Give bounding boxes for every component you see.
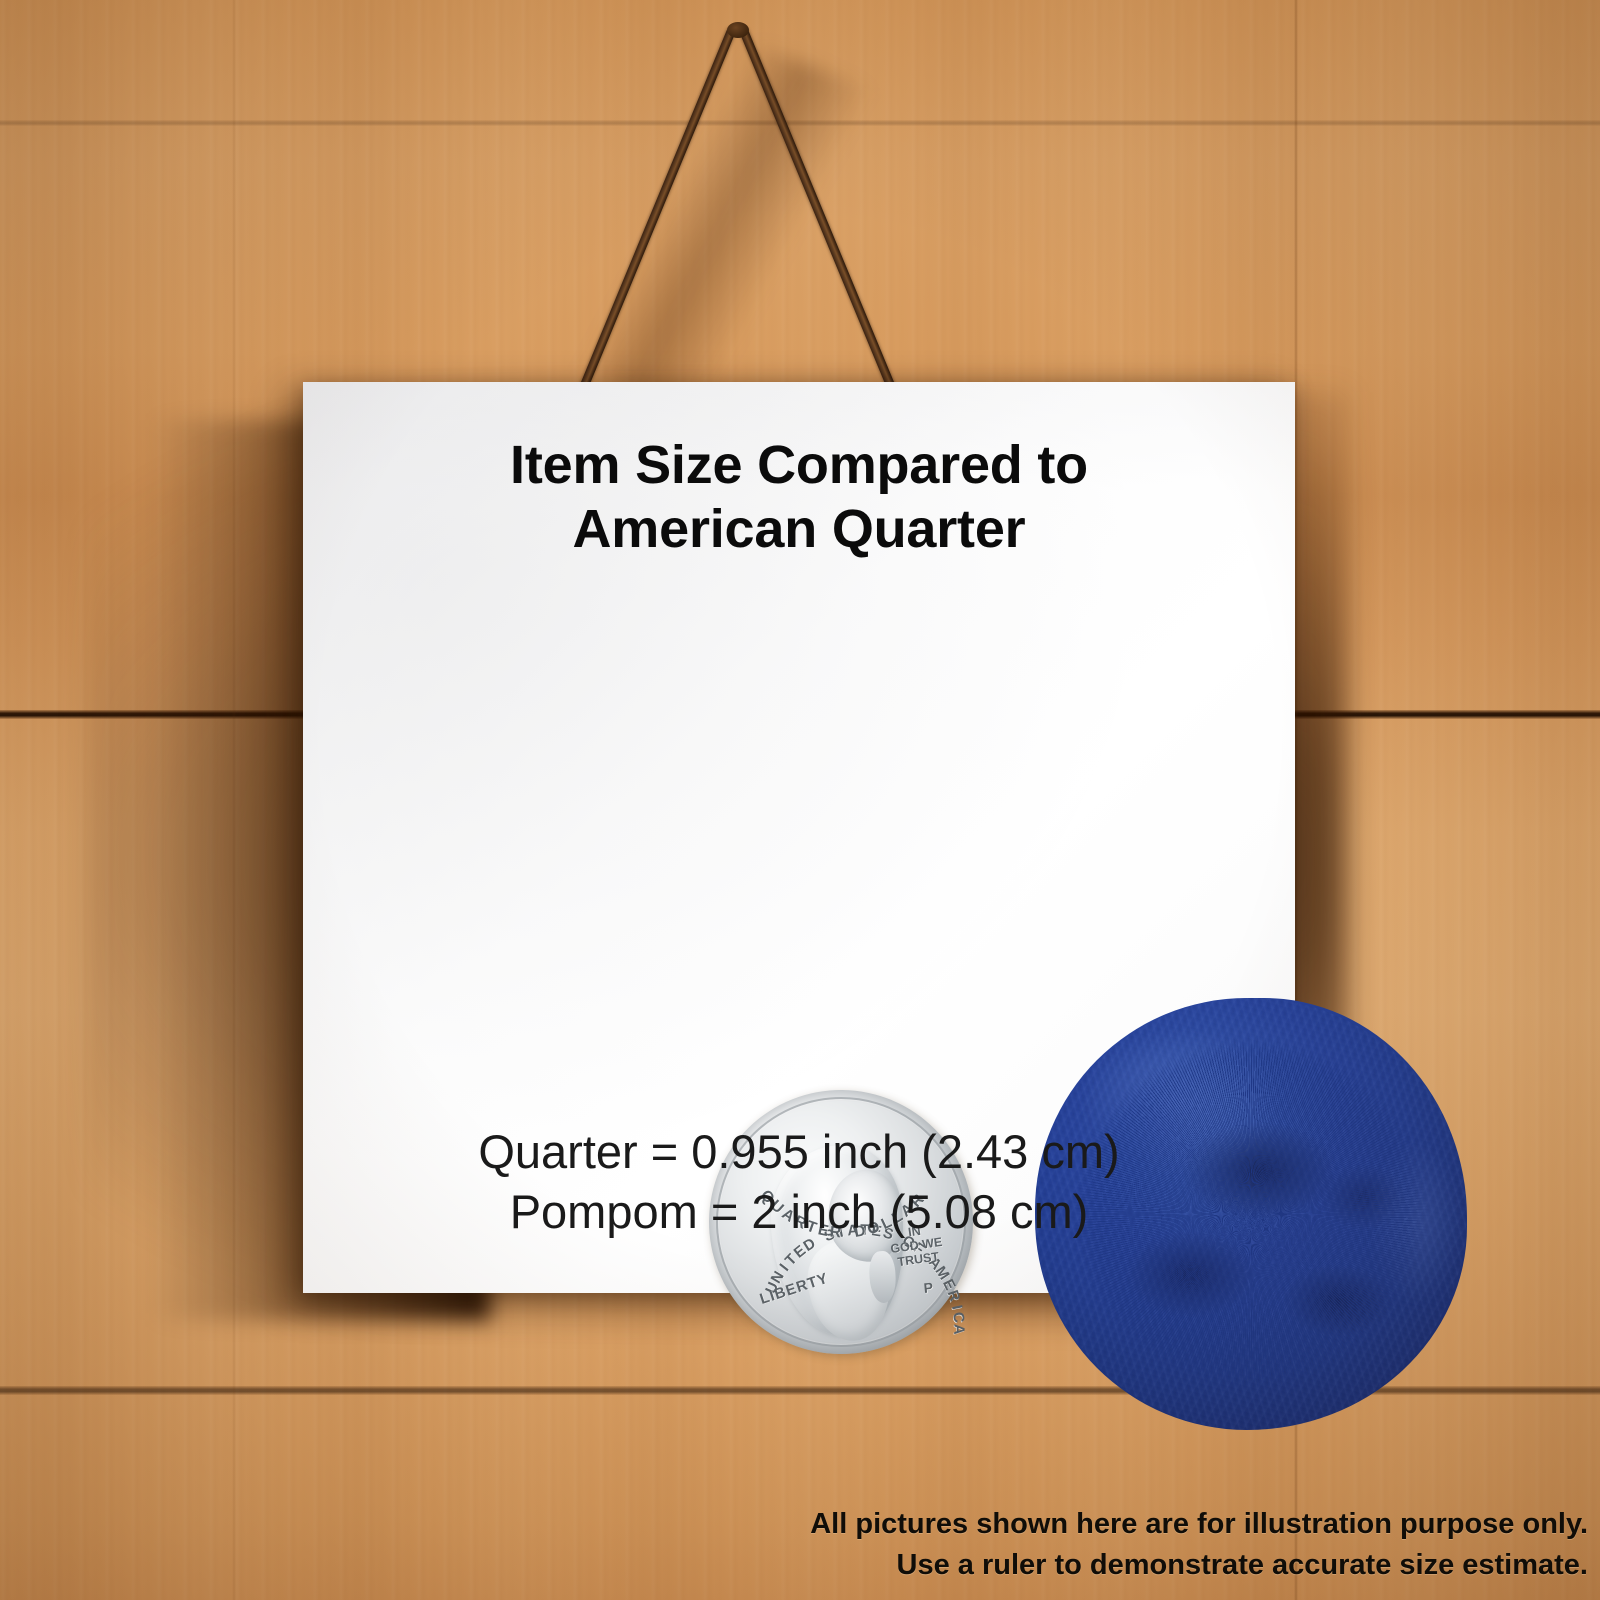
disclaimer-line-1: All pictures shown here are for illustra…	[810, 1504, 1588, 1545]
twine-knot	[727, 22, 749, 38]
disclaimer-line-2: Use a ruler to demonstrate accurate size…	[810, 1545, 1588, 1586]
coin-mint-mark: P	[923, 1279, 934, 1296]
measurement-quarter: Quarter = 0.955 inch (2.43 cm)	[303, 1122, 1295, 1182]
measurement-text: Quarter = 0.955 inch (2.43 cm) Pompom = …	[303, 1122, 1295, 1242]
product-size-comparison-image: Item Size Compared to American Quarter U…	[0, 0, 1600, 1600]
title-line-2: American Quarter	[303, 498, 1295, 562]
measurement-pompom: Pompom = 2 inch (5.08 cm)	[303, 1182, 1295, 1242]
hanging-twine	[560, 18, 980, 398]
page-title: Item Size Compared to American Quarter	[303, 434, 1295, 561]
title-line-1: Item Size Compared to	[303, 434, 1295, 498]
info-card: Item Size Compared to American Quarter U…	[303, 382, 1295, 1293]
disclaimer-text: All pictures shown here are for illustra…	[810, 1504, 1588, 1586]
